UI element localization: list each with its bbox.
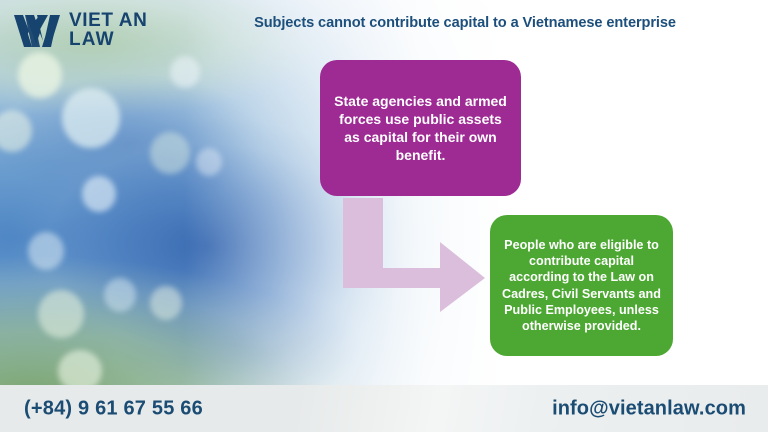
diagram-node-eligible-people[interactable]: People who are eligible to contribute ca… bbox=[490, 215, 673, 356]
footer-phone-number[interactable]: (+84) 9 61 67 55 66 bbox=[24, 397, 203, 420]
footer-contact-bar: (+84) 9 61 67 55 66 info@vietanlaw.com bbox=[0, 385, 768, 432]
brand-name: VIET AN LAW bbox=[69, 12, 147, 49]
diagram-node-state-agencies[interactable]: State agencies and armed forces use publ… bbox=[320, 60, 521, 196]
brand-logo[interactable]: VIET AN LAW bbox=[14, 12, 147, 49]
slide-canvas: VIET AN LAW Subjects cannot contribute c… bbox=[0, 0, 768, 432]
elbow-arrow-down-right-icon bbox=[340, 198, 486, 312]
page-title: Subjects cannot contribute capital to a … bbox=[200, 15, 730, 31]
vietanlaw-double-chevron-logo-icon bbox=[14, 14, 60, 48]
brand-name-line2: LAW bbox=[69, 31, 147, 50]
brand-name-line1: VIET AN bbox=[69, 12, 147, 31]
footer-email-address[interactable]: info@vietanlaw.com bbox=[552, 397, 746, 420]
